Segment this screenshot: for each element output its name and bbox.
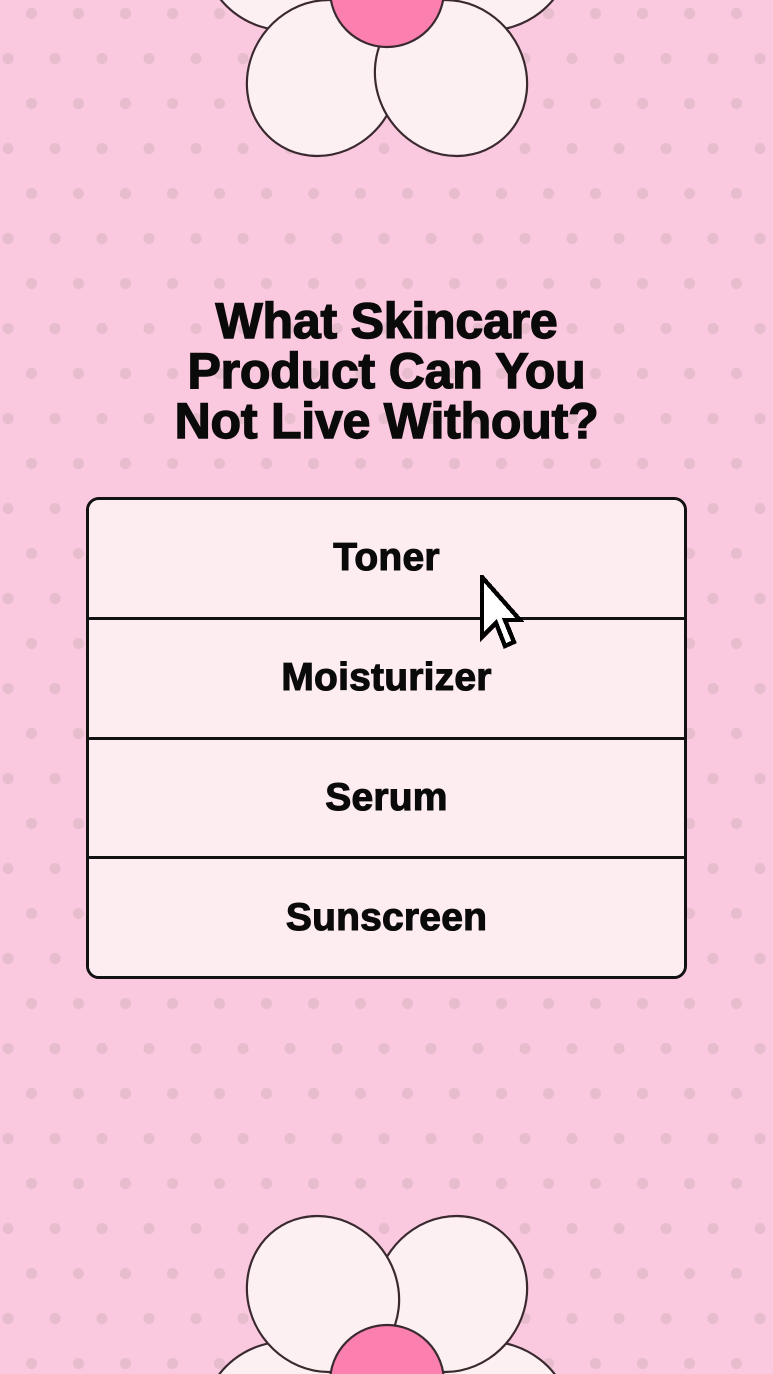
poll-options-card: Toner Moisturizer Serum Sunscreen [86, 497, 687, 979]
poll-screen: What Skincare Product Can You Not Live W… [0, 0, 773, 1374]
poll-option-label: Serum [325, 776, 447, 820]
poll-option-label: Toner [333, 536, 439, 580]
title-line-1: What Skincare [28, 296, 745, 346]
title-line-2: Product Can You [28, 346, 745, 396]
poll-option-serum[interactable]: Serum [89, 740, 684, 860]
flower-center [330, 0, 444, 47]
flower-center [330, 1325, 444, 1374]
poll-option-label: Moisturizer [281, 656, 491, 700]
poll-question-title: What Skincare Product Can You Not Live W… [0, 296, 773, 446]
poll-option-toner[interactable]: Toner [89, 500, 684, 620]
poll-option-moisturizer[interactable]: Moisturizer [89, 620, 684, 740]
daisy-flower-bottom-decoration [207, 1208, 567, 1374]
flower-petals [184, 0, 590, 186]
daisy-flower-top-decoration [207, 0, 567, 164]
poll-option-sunscreen[interactable]: Sunscreen [89, 859, 684, 976]
flower-petals [184, 1186, 590, 1374]
poll-option-label: Sunscreen [286, 896, 487, 940]
title-line-3: Not Live Without? [28, 396, 745, 446]
